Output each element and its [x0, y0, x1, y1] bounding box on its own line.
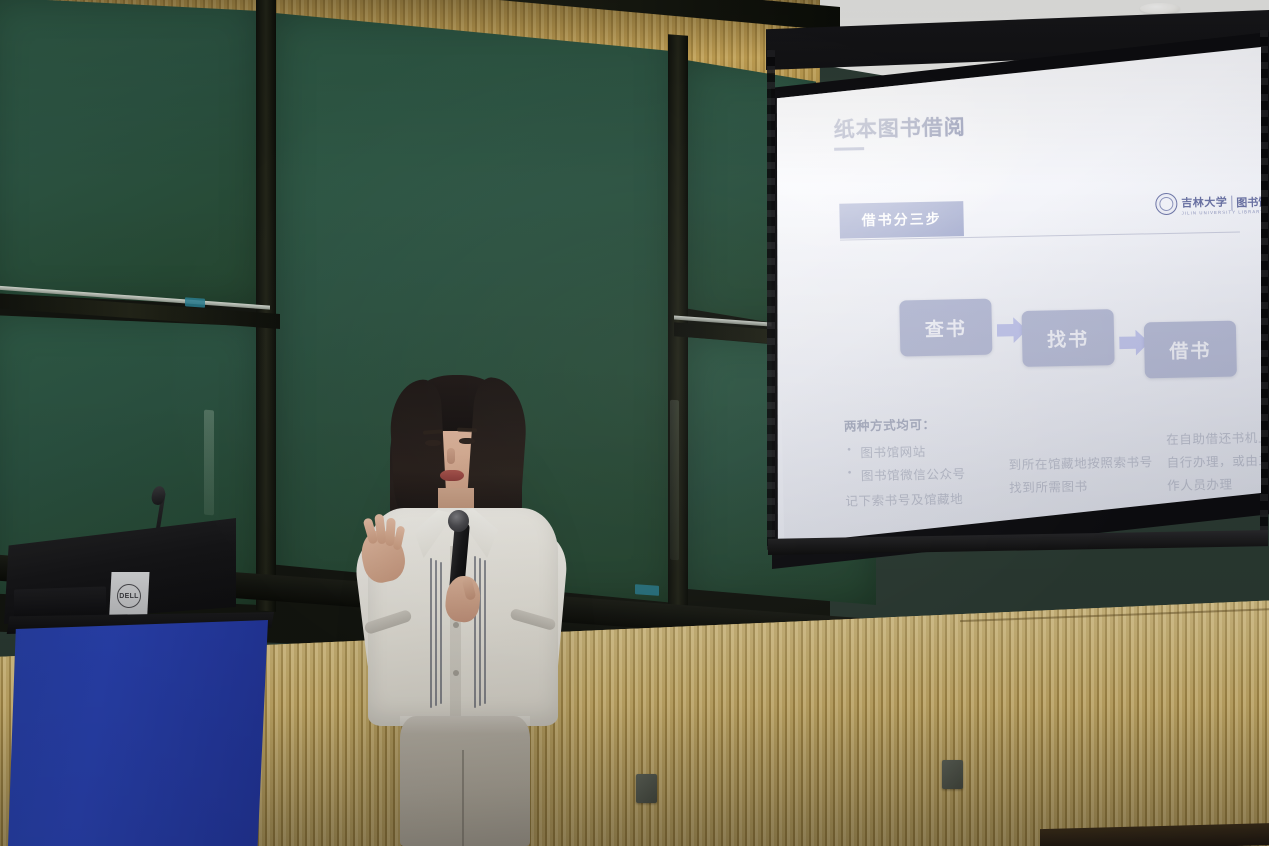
flow-step-1: 查书: [899, 299, 992, 357]
trouser-seam: [462, 750, 464, 846]
dell-logo: DELL: [117, 584, 141, 608]
brand-name-en: JILIN UNIVERSITY LIBRARY: [1181, 209, 1261, 216]
nose: [447, 448, 455, 464]
cardigan-button: [453, 622, 459, 628]
screen-edge-left: [767, 50, 775, 550]
slide-surface: 纸本图书借阅 借书分三步 吉林大学 图书馆 JILIN UNIVERSITY L…: [774, 45, 1261, 557]
pinstripe: [440, 562, 442, 704]
title-underline: [834, 147, 864, 151]
board-control-strip[interactable]: [204, 410, 214, 516]
library-brand-logo: 吉林大学 图书馆 JILIN UNIVERSITY LIBRARY: [1155, 185, 1252, 221]
pinstripe: [479, 558, 481, 706]
pinstripe: [435, 560, 437, 706]
column-1-tail: 记下索书号及馆藏地: [845, 488, 995, 514]
brand-name-cn2: 图书馆: [1236, 194, 1261, 211]
pinstripe: [430, 558, 432, 708]
eye: [425, 440, 441, 446]
column-1-bullets: 图书馆网站 图书馆微信公众号: [844, 440, 995, 489]
slide-column-3: 在自助借还书机上自行办理，或由工作人员办理: [1166, 427, 1261, 499]
slide-column-1: 两种方式均可： 图书馆网站 图书馆微信公众号 记下索书号及馆藏地: [844, 413, 996, 515]
chalkboard-panel: [0, 0, 260, 307]
eye: [459, 438, 475, 444]
screen-edge-right: [1260, 30, 1268, 540]
column-1-lead: 两种方式均可：: [844, 413, 994, 439]
slide-column-2: 到所在馆藏地按照索书号找到所需图书: [1008, 451, 1157, 500]
list-item: 图书馆微信公众号: [845, 463, 995, 489]
mouth: [440, 470, 464, 481]
list-item: 图书馆网站: [844, 440, 994, 466]
lectern-podium: JILIN UNIVERSITY · CHINA 吉林大学 1946: [8, 620, 268, 846]
borrow-steps-flow: 查书 找书 借书: [899, 293, 1241, 390]
wall-outlet-icon[interactable]: [636, 774, 657, 803]
lecture-hall-scene: 纸本图书借阅 借书分三步 吉林大学 图书馆 JILIN UNIVERSITY L…: [0, 0, 1269, 846]
slide-section-badge: 借书分三步: [839, 201, 964, 239]
slide-title: 纸本图书借阅: [833, 111, 966, 144]
board-tag: [635, 584, 659, 596]
trousers: [400, 716, 530, 846]
brand-name-cn: 吉林大学: [1181, 197, 1227, 210]
board-control-strip[interactable]: [670, 400, 679, 561]
board-tag: [185, 297, 205, 307]
pinstripe: [474, 556, 476, 708]
university-seal-icon: [1155, 193, 1177, 215]
waistband: [400, 716, 530, 734]
wall-outlet-icon[interactable]: [942, 760, 963, 789]
cardigan-button: [453, 670, 459, 676]
flow-step-3: 借书: [1144, 321, 1237, 379]
brand-divider: [1231, 195, 1232, 210]
slide-content: 纸本图书借阅 借书分三步 吉林大学 图书馆 JILIN UNIVERSITY L…: [774, 45, 1261, 557]
flow-step-2: 找书: [1022, 309, 1115, 367]
presenter-person-icon: [352, 378, 582, 846]
pinstripe: [484, 560, 486, 704]
projection-screen-icon: 纸本图书借阅 借书分三步 吉林大学 图书馆 JILIN UNIVERSITY L…: [766, 10, 1269, 580]
